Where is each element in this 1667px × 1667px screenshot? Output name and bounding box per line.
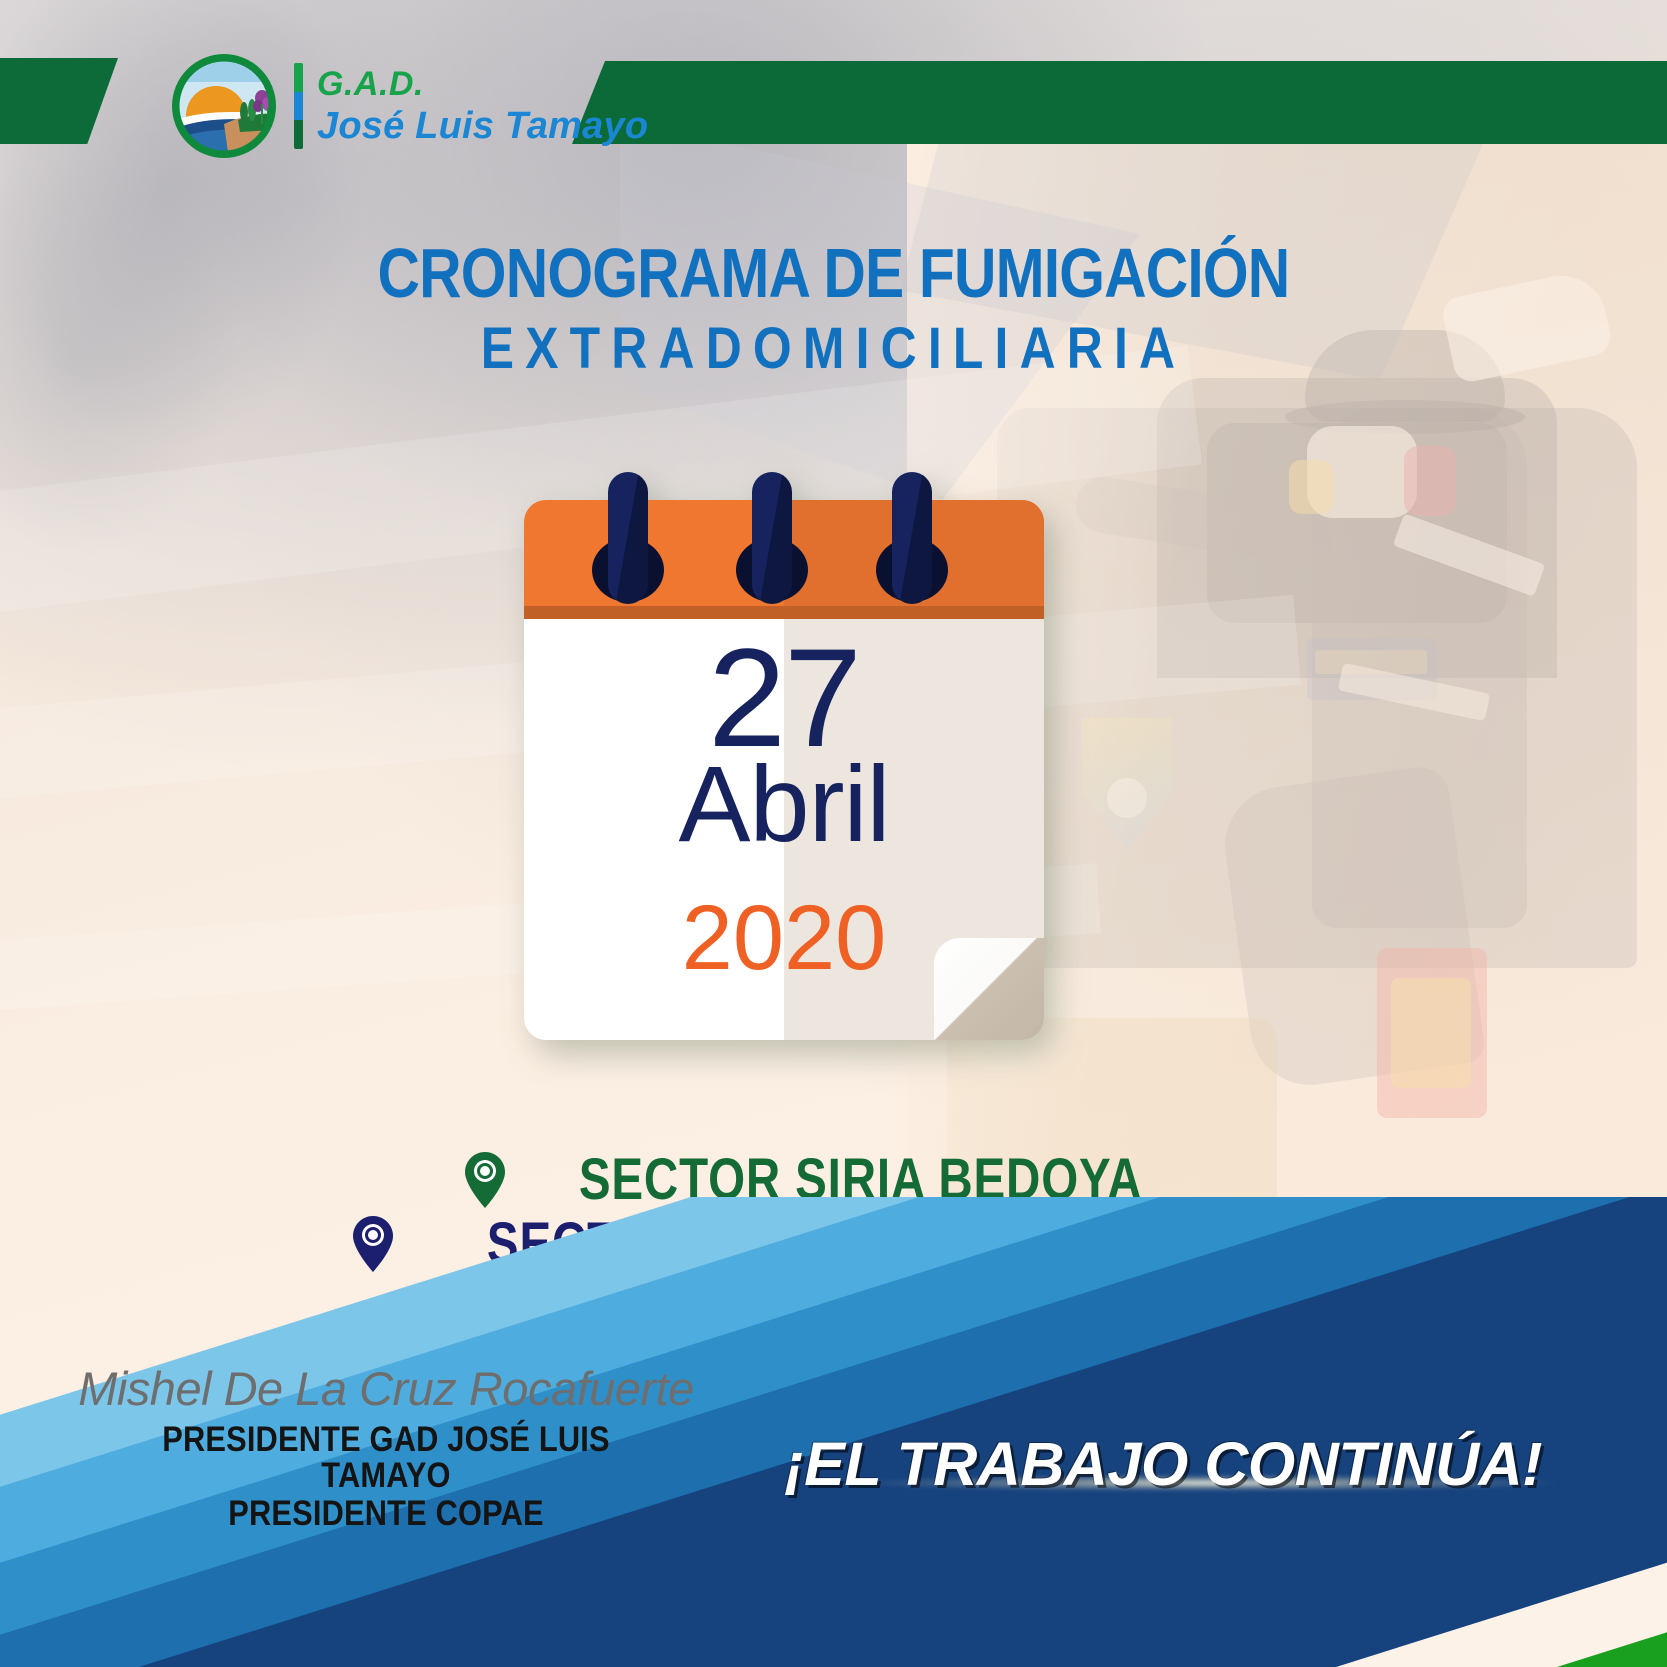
page-title: CRONOGRAMA DE FUMIGACIÓN EXTRADOMICILIAR… <box>0 238 1667 378</box>
gad-landscape-emblem-icon <box>168 50 280 162</box>
slogan-text: ¡EL TRABAJO CONTINÚA! <box>784 1429 1542 1499</box>
logo-divider <box>294 63 303 149</box>
signature-name: Mishel De La Cruz Rocafuerte <box>66 1365 706 1413</box>
brand-logo: G.A.D. José Luis Tamayo <box>168 50 648 162</box>
calendar-ring-icon-1 <box>608 472 648 604</box>
calendar-header-strip <box>524 606 1044 619</box>
signature-block: Mishel De La Cruz Rocafuerte PRESIDENTE … <box>66 1365 706 1532</box>
poster-canvas: G.A.D. José Luis Tamayo CRONOGRAMA DE FU… <box>0 0 1667 1667</box>
brand-text: G.A.D. José Luis Tamayo <box>317 67 648 145</box>
calendar-year: 2020 <box>524 892 1044 984</box>
calendar-ring-icon-3 <box>892 472 932 604</box>
title-line-1: CRONOGRAMA DE FUMIGACIÓN <box>133 238 1533 308</box>
signature-role-1: PRESIDENTE GAD JOSÉ LUIS TAMAYO <box>104 1422 667 1493</box>
calendar-month: Abril <box>524 750 1044 858</box>
calendar-date: 27 Abril 2020 <box>524 628 1044 984</box>
signature-role-2: PRESIDENTE COPAE <box>104 1496 667 1532</box>
calendar-ring-icon-2 <box>752 472 792 604</box>
header-banner-right <box>572 61 1667 144</box>
calendar-card: 27 Abril 2020 <box>524 500 1044 1040</box>
title-line-2: EXTRADOMICILIARIA <box>117 320 1551 378</box>
brand-line-1: G.A.D. <box>317 67 648 101</box>
brand-line-2: José Luis Tamayo <box>317 107 648 145</box>
